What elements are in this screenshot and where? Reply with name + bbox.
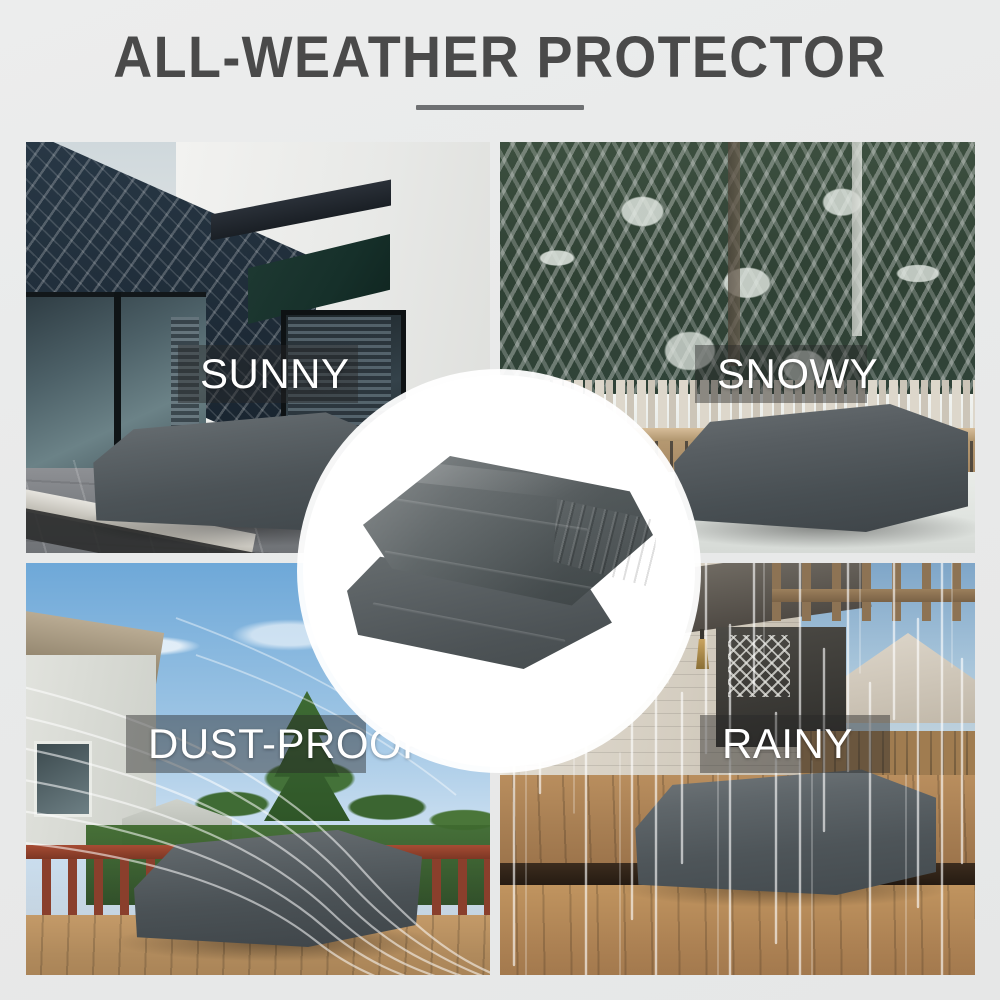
folded-cover-image bbox=[345, 451, 657, 691]
pergola-beam bbox=[772, 589, 975, 602]
furniture-cover bbox=[626, 767, 936, 895]
page-title: ALL-WEATHER PROTECTOR bbox=[35, 24, 965, 91]
product-closeup-circle[interactable] bbox=[303, 375, 695, 767]
furniture-cover bbox=[668, 404, 968, 532]
house-window bbox=[34, 741, 92, 817]
tree-trunk bbox=[728, 142, 740, 366]
poster-header: ALL-WEATHER PROTECTOR bbox=[0, 0, 1000, 142]
birch-trunk bbox=[852, 142, 862, 336]
caption-snowy: SNOWY bbox=[695, 345, 867, 403]
caption-dust-proof: DUST-PROOF bbox=[126, 715, 366, 773]
title-divider bbox=[416, 105, 584, 110]
caption-rainy: RAINY bbox=[700, 715, 890, 773]
caption-sunny: SUNNY bbox=[178, 345, 358, 403]
poster-canvas: ALL-WEATHER PROTECTOR bbox=[0, 0, 1000, 1000]
lattice-panel bbox=[728, 635, 790, 697]
